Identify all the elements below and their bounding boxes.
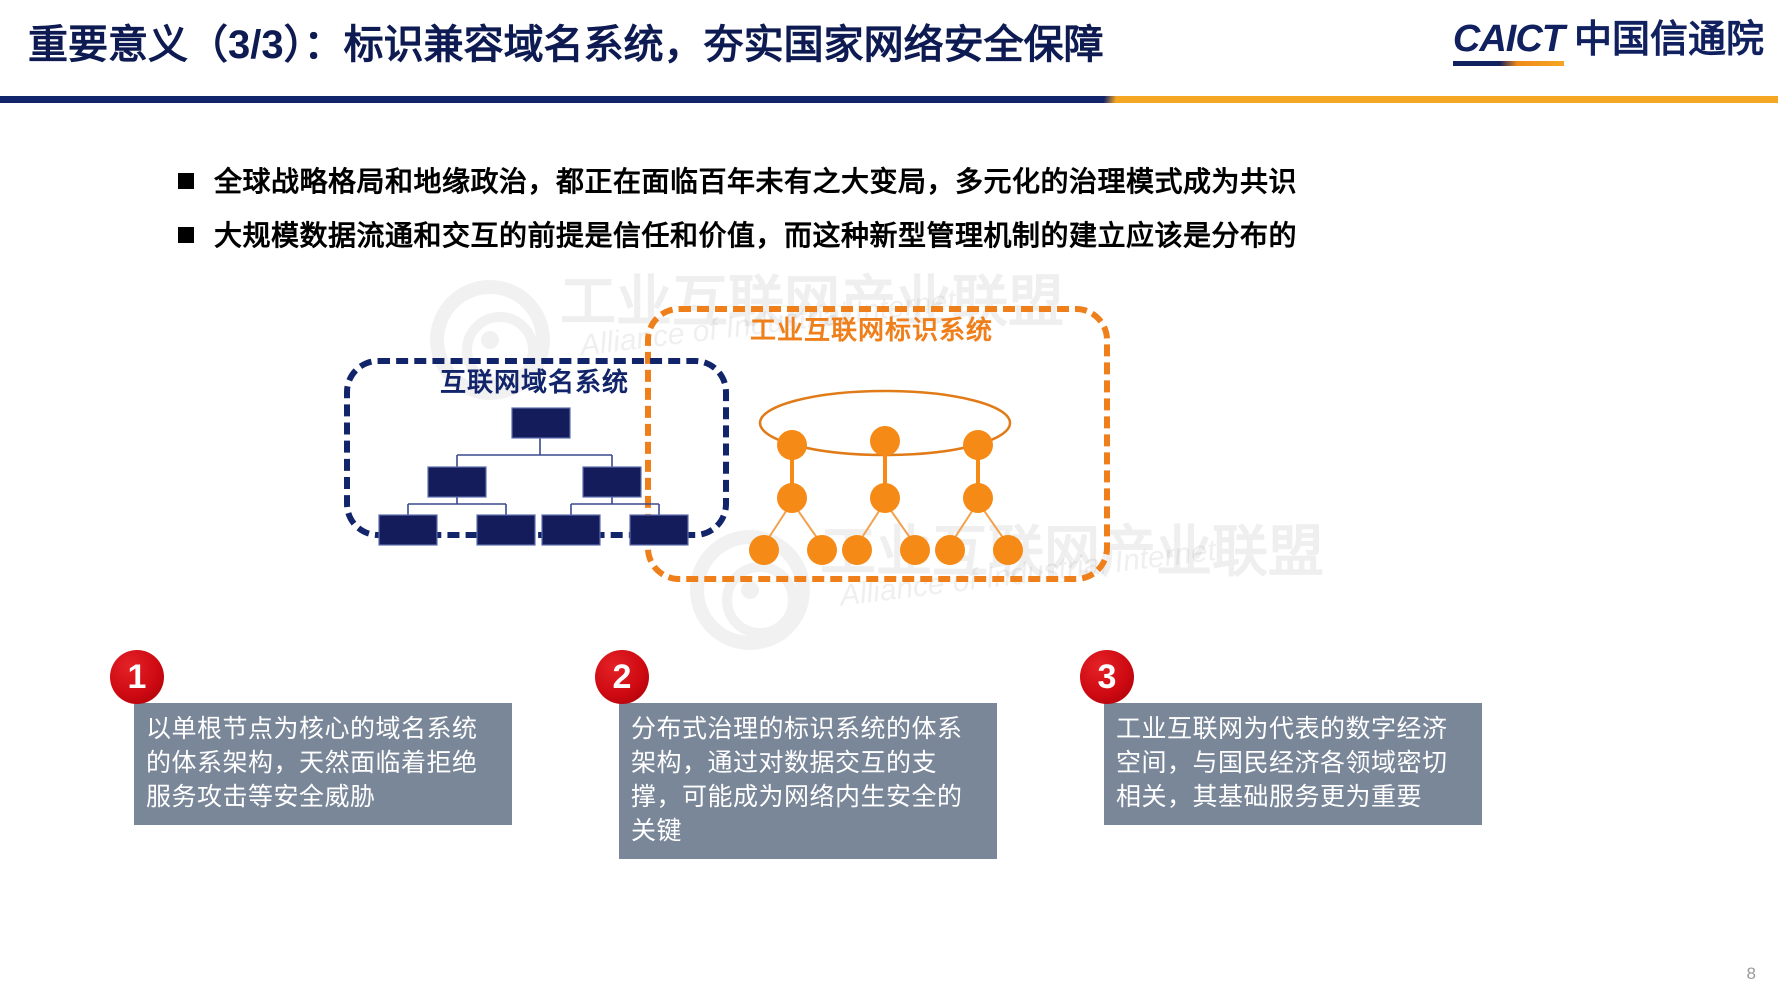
- callout-text: 工业互联网为代表的数字经济空间，与国民经济各领域密切相关，其基础服务更为重要: [1104, 703, 1482, 825]
- square-bullet-icon: [178, 173, 194, 189]
- callout-group: 1 以单根节点为核心的域名系统的体系架构，天然面临着拒绝服务攻击等安全威胁 2 …: [0, 650, 1778, 850]
- dns-leaf-node: [542, 515, 600, 545]
- slide-header: 重要意义（3/3）：标识兼容域名系统，夯实国家网络安全保障 CAICT 中国信通…: [0, 0, 1778, 100]
- identifier-system-label: 工业互联网标识系统: [750, 310, 993, 347]
- status-badge: 3: [1080, 650, 1134, 704]
- dns-root-node: [512, 408, 570, 438]
- bullet-list: 全球战略格局和地缘政治，都正在面临百年未有之大变局，多元化的治理模式成为共识 大…: [178, 162, 1598, 270]
- caict-chinese-name: 中国信通院: [1574, 18, 1764, 62]
- dns-tld-node: [583, 467, 641, 497]
- list-item: 大规模数据流通和交互的前提是信任和价值，而这种新型管理机制的建立应该是分布的: [178, 216, 1598, 256]
- status-badge: 1: [110, 650, 164, 704]
- logo-gradient-underline: [1453, 61, 1564, 66]
- dns-leaf-node: [630, 515, 688, 545]
- rule-segment-navy: [0, 96, 1105, 103]
- dns-hierarchy-tree: [330, 290, 1140, 600]
- dns-leaf-node: [477, 515, 535, 545]
- square-bullet-icon: [178, 227, 194, 243]
- caict-mark-text: CAICT: [1453, 18, 1564, 60]
- dns-leaf-node: [379, 515, 437, 545]
- list-item: 全球战略格局和地缘政治，都正在面临百年未有之大变局，多元化的治理模式成为共识: [178, 162, 1598, 202]
- caict-logo: CAICT 中国信通院: [1453, 18, 1764, 66]
- status-badge: 2: [595, 650, 649, 704]
- dns-system-label: 互联网域名系统: [440, 362, 629, 399]
- callout-text: 分布式治理的标识系统的体系架构，通过对数据交互的支撑，可能成为网络内生安全的关键: [619, 703, 997, 859]
- caict-wordmark: CAICT: [1453, 18, 1564, 66]
- architecture-diagram: 互联网域名系统 工业互联网标识系统: [330, 290, 1140, 600]
- page-number: 8: [1747, 964, 1756, 984]
- page-title: 重要意义（3/3）：标识兼容域名系统，夯实国家网络安全保障: [28, 14, 1104, 76]
- rule-segment-orange: [1128, 96, 1778, 103]
- bullet-text: 大规模数据流通和交互的前提是信任和价值，而这种新型管理机制的建立应该是分布的: [214, 216, 1297, 256]
- dns-tld-node: [428, 467, 486, 497]
- header-divider-rule: [0, 96, 1778, 103]
- bullet-text: 全球战略格局和地缘政治，都正在面临百年未有之大变局，多元化的治理模式成为共识: [214, 162, 1297, 202]
- callout-text: 以单根节点为核心的域名系统的体系架构，天然面临着拒绝服务攻击等安全威胁: [134, 703, 512, 825]
